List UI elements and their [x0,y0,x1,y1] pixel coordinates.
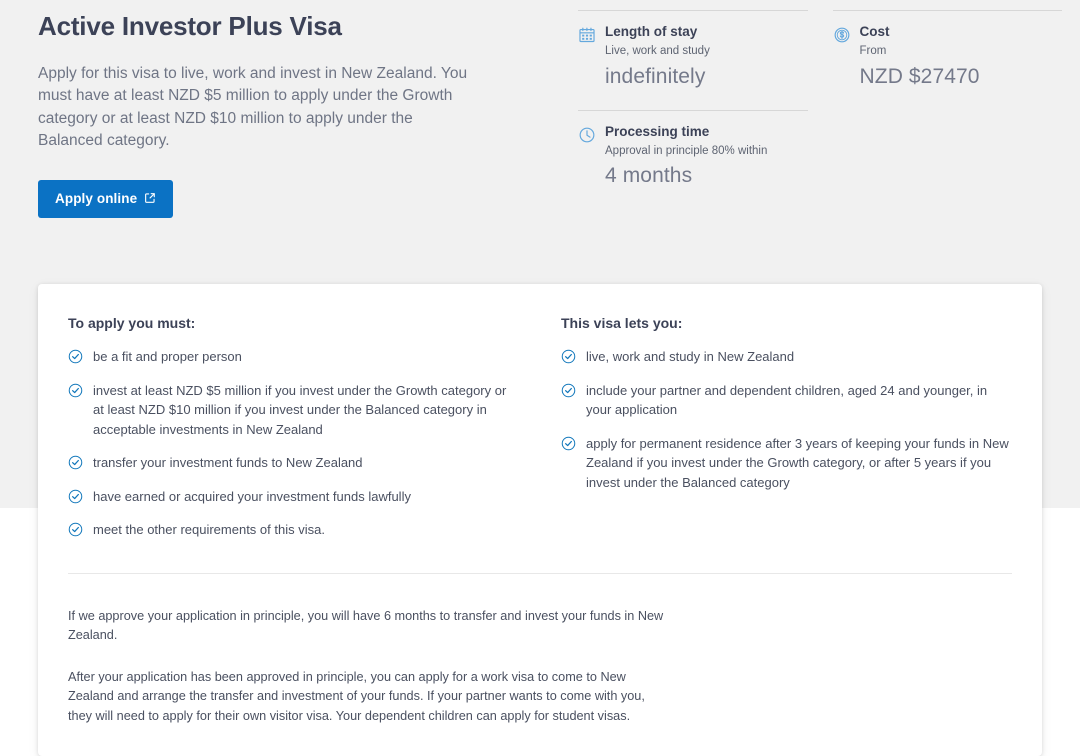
stat-value: 4 months [605,163,808,189]
visa-stats: Length of stay Live, work and study inde… [578,10,1062,204]
calendar-icon [578,26,596,44]
stat-body: Processing time Approval in principle 80… [605,124,808,190]
check-circle-icon [68,383,83,398]
visa-details-card: To apply you must: be a fit and proper p… [38,284,1042,756]
list-item: apply for permanent residence after 3 ye… [561,427,1012,500]
stat-cost: Cost From NZD $27470 [833,10,1063,104]
requirements-list: be a fit and proper person invest at lea… [68,340,519,547]
stat-processing-time: Processing time Approval in principle 80… [578,110,808,204]
list-item: have earned or acquired your investment … [68,480,519,514]
note-paragraph: After your application has been approved… [68,668,668,727]
stat-subtitle: From [860,44,1063,58]
list-item: live, work and study in New Zealand [561,340,1012,374]
list-item-text: live, work and study in New Zealand [586,347,1012,367]
stat-title: Processing time [605,124,808,140]
benefits-column: This visa lets you: live, work and study… [561,314,1012,547]
list-item: be a fit and proper person [68,340,519,374]
note-paragraph: If we approve your application in princi… [68,607,668,646]
hero-text-block: Active Investor Plus Visa Apply for this… [38,10,538,218]
list-item-text: include your partner and dependent child… [586,381,1012,420]
list-item-text: meet the other requirements of this visa… [93,520,519,540]
list-item: meet the other requirements of this visa… [68,513,519,547]
stat-length-of-stay: Length of stay Live, work and study inde… [578,10,808,104]
card-divider [68,573,1012,574]
check-circle-icon [68,455,83,470]
list-item-text: invest at least NZD $5 million if you in… [93,381,519,440]
check-circle-icon [561,349,576,364]
stats-column-right: Cost From NZD $27470 [833,10,1063,204]
stat-subtitle: Approval in principle 80% within [605,144,808,158]
clock-icon [578,126,596,144]
card-columns: To apply you must: be a fit and proper p… [68,314,1012,547]
check-circle-icon [561,436,576,451]
list-item-text: transfer your investment funds to New Ze… [93,453,519,473]
stat-body: Length of stay Live, work and study inde… [605,24,808,90]
list-item-text: have earned or acquired your investment … [93,487,519,507]
stats-column-left: Length of stay Live, work and study inde… [578,10,808,204]
benefits-heading: This visa lets you: [561,314,1012,332]
dollar-circle-icon [833,26,851,44]
stat-value: NZD $27470 [860,64,1063,90]
apply-online-button[interactable]: Apply online [38,180,173,218]
list-item-text: be a fit and proper person [93,347,519,367]
stat-title: Length of stay [605,24,808,40]
page-title: Active Investor Plus Visa [38,10,538,43]
stat-title: Cost [860,24,1063,40]
stat-value: indefinitely [605,64,808,90]
card-notes: If we approve your application in princi… [68,607,668,727]
stat-subtitle: Live, work and study [605,44,808,58]
apply-online-label: Apply online [55,191,137,206]
list-item: include your partner and dependent child… [561,374,1012,427]
stat-body: Cost From NZD $27470 [860,24,1063,90]
list-item: invest at least NZD $5 million if you in… [68,374,519,447]
external-link-icon [144,192,156,204]
benefits-list: live, work and study in New Zealand incl… [561,340,1012,499]
requirements-column: To apply you must: be a fit and proper p… [68,314,519,547]
check-circle-icon [68,522,83,537]
check-circle-icon [68,489,83,504]
page-intro: Apply for this visa to live, work and in… [38,63,468,153]
list-item: transfer your investment funds to New Ze… [68,446,519,480]
list-item-text: apply for permanent residence after 3 ye… [586,434,1012,493]
check-circle-icon [68,349,83,364]
requirements-heading: To apply you must: [68,314,519,332]
check-circle-icon [561,383,576,398]
